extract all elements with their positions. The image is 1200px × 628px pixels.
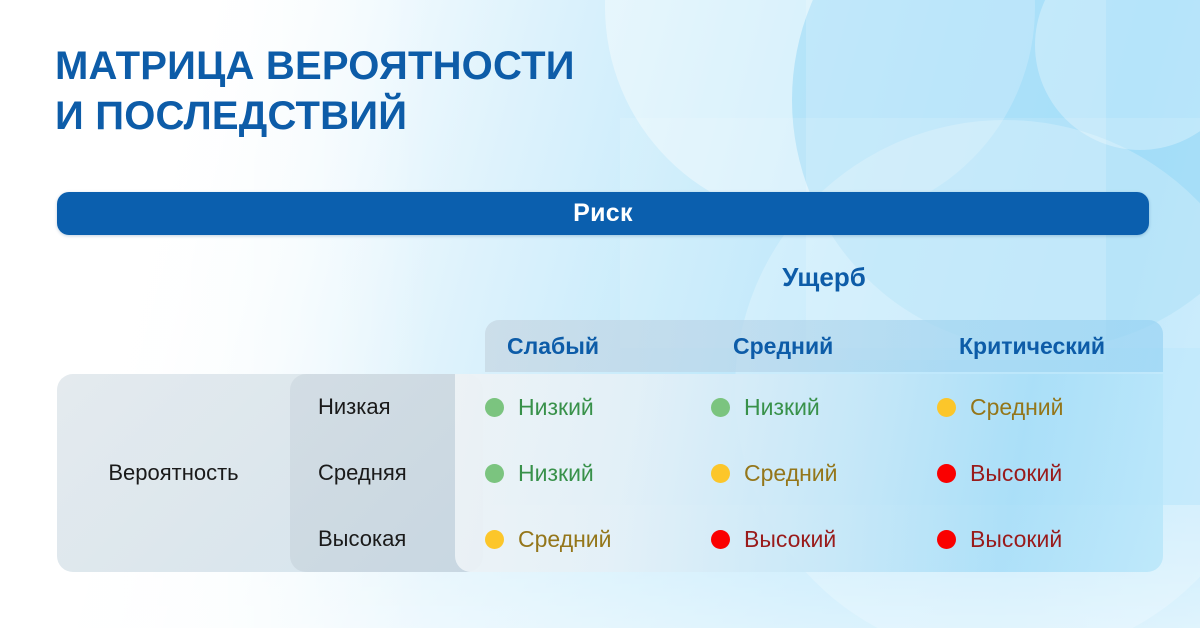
risk-dot-low-icon <box>485 398 504 417</box>
matrix-cell: Высокий <box>711 526 937 553</box>
risk-banner: Риск <box>57 192 1149 235</box>
matrix-cell: Низкий <box>485 394 711 421</box>
probability-panel: Вероятность Низкая Средняя Высокая <box>57 374 483 572</box>
matrix-row: Низкий Низкий Средний <box>455 374 1163 440</box>
matrix-cell-label: Высокий <box>970 526 1062 553</box>
page-title: МАТРИЦА ВЕРОЯТНОСТИ И ПОСЛЕДСТВИЙ <box>55 42 735 141</box>
risk-matrix-body: Низкий Низкий Средний Низкий Средний <box>455 374 1163 572</box>
matrix-cell: Низкий <box>711 394 937 421</box>
damage-column-header-weak: Слабый <box>485 333 711 360</box>
risk-dot-medium-icon <box>937 398 956 417</box>
risk-dot-high-icon <box>937 530 956 549</box>
matrix-cell: Средний <box>711 460 937 487</box>
matrix-cell: Средний <box>937 394 1163 421</box>
matrix-cell-label: Средний <box>518 526 612 553</box>
matrix-cell-label: Средний <box>744 460 838 487</box>
risk-dot-low-icon <box>485 464 504 483</box>
matrix-cell-label: Высокий <box>744 526 836 553</box>
matrix-cell-label: Средний <box>970 394 1064 421</box>
matrix-cell-label: Низкий <box>744 394 820 421</box>
matrix-row: Низкий Средний Высокий <box>455 440 1163 506</box>
background-circle-small <box>1035 0 1200 150</box>
damage-column-header-critical: Критический <box>937 333 1163 360</box>
risk-dot-low-icon <box>711 398 730 417</box>
matrix-cell: Высокий <box>937 460 1163 487</box>
damage-column-header-medium: Средний <box>711 333 937 360</box>
risk-dot-medium-icon <box>711 464 730 483</box>
damage-header-row: Слабый Средний Критический <box>485 320 1163 372</box>
probability-axis-label: Вероятность <box>57 374 290 572</box>
matrix-cell-label: Высокий <box>970 460 1062 487</box>
risk-dot-high-icon <box>711 530 730 549</box>
matrix-cell: Средний <box>485 526 711 553</box>
matrix-cell: Высокий <box>937 526 1163 553</box>
risk-dot-medium-icon <box>485 530 504 549</box>
matrix-row: Средний Высокий Высокий <box>455 506 1163 572</box>
risk-dot-high-icon <box>937 464 956 483</box>
infographic-canvas: МАТРИЦА ВЕРОЯТНОСТИ И ПОСЛЕДСТВИЙ Риск У… <box>0 0 1200 628</box>
matrix-cell-label: Низкий <box>518 460 594 487</box>
matrix-cell: Низкий <box>485 460 711 487</box>
background-band-vertical <box>806 0 1106 360</box>
risk-banner-label: Риск <box>573 199 633 228</box>
matrix-cell-label: Низкий <box>518 394 594 421</box>
damage-axis-caption: Ущерб <box>485 262 1163 293</box>
background-circle-blue <box>792 0 1200 350</box>
